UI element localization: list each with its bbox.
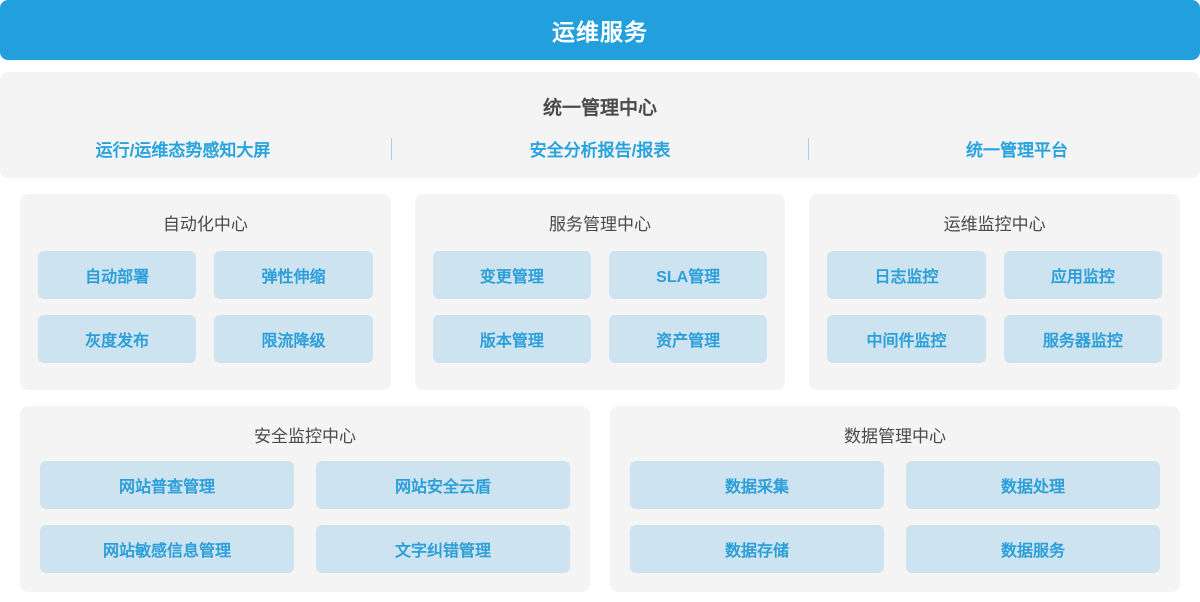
unified-management-center-panel: 统一管理中心 运行/运维态势感知大屏 安全分析报告/报表 统一管理平台 [0,72,1200,178]
chip-item[interactable]: 日志监控 [827,251,985,299]
chip-item[interactable]: 文字纠错管理 [316,525,570,573]
band-link-security-report[interactable]: 安全分析报告/报表 [460,136,740,161]
diagram-root: 运维服务 统一管理中心 运行/运维态势感知大屏 安全分析报告/报表 统一管理平台… [0,0,1200,602]
chip-item[interactable]: 数据采集 [630,461,884,509]
chip-grid: 变更管理 SLA管理 版本管理 资产管理 [433,251,768,363]
card-title: 安全监控中心 [254,422,356,447]
divider-icon-1 [391,138,392,160]
band-link-management-platform[interactable]: 统一管理平台 [877,136,1157,161]
chip-grid: 自动部署 弹性伸缩 灰度发布 限流降级 [38,251,373,363]
chip-item[interactable]: 应用监控 [1004,251,1162,299]
chip-item[interactable]: 服务器监控 [1004,315,1162,363]
card-title: 运维监控中心 [944,210,1046,235]
unified-management-center-title: 统一管理中心 [543,93,657,120]
header-banner: 运维服务 [0,0,1200,60]
chip-item[interactable]: 中间件监控 [827,315,985,363]
chip-item[interactable]: 自动部署 [38,251,196,299]
chip-item[interactable]: 版本管理 [433,315,591,363]
card-title: 数据管理中心 [844,422,946,447]
chip-item[interactable]: SLA管理 [609,251,767,299]
center-row-top: 自动化中心 自动部署 弹性伸缩 灰度发布 限流降级 服务管理中心 变更管理 SL… [20,194,1180,390]
card-service-management-center: 服务管理中心 变更管理 SLA管理 版本管理 资产管理 [415,194,786,390]
chip-item[interactable]: 变更管理 [433,251,591,299]
chip-item[interactable]: 网站安全云盾 [316,461,570,509]
chip-item[interactable]: 资产管理 [609,315,767,363]
center-row-bottom: 安全监控中心 网站普查管理 网站安全云盾 网站敏感信息管理 文字纠错管理 数据管… [20,406,1180,592]
card-operations-monitoring-center: 运维监控中心 日志监控 应用监控 中间件监控 服务器监控 [809,194,1180,390]
chip-grid: 日志监控 应用监控 中间件监控 服务器监控 [827,251,1162,363]
card-data-management-center: 数据管理中心 数据采集 数据处理 数据存储 数据服务 [610,406,1180,592]
chip-item[interactable]: 数据处理 [906,461,1160,509]
chip-item[interactable]: 网站普查管理 [40,461,294,509]
chip-item[interactable]: 灰度发布 [38,315,196,363]
chip-item[interactable]: 数据存储 [630,525,884,573]
chip-grid: 网站普查管理 网站安全云盾 网站敏感信息管理 文字纠错管理 [40,461,570,573]
page-title: 运维服务 [552,13,648,47]
chip-item[interactable]: 限流降级 [214,315,372,363]
card-security-monitoring-center: 安全监控中心 网站普查管理 网站安全云盾 网站敏感信息管理 文字纠错管理 [20,406,590,592]
chip-item[interactable]: 数据服务 [906,525,1160,573]
chip-item[interactable]: 网站敏感信息管理 [40,525,294,573]
card-automation-center: 自动化中心 自动部署 弹性伸缩 灰度发布 限流降级 [20,194,391,390]
card-title: 自动化中心 [163,210,248,235]
divider-icon-2 [808,138,809,160]
chip-item[interactable]: 弹性伸缩 [214,251,372,299]
unified-management-center-links: 运行/运维态势感知大屏 安全分析报告/报表 统一管理平台 [0,136,1200,161]
chip-grid: 数据采集 数据处理 数据存储 数据服务 [630,461,1160,573]
card-title: 服务管理中心 [549,210,651,235]
band-link-dashboard[interactable]: 运行/运维态势感知大屏 [43,136,323,161]
